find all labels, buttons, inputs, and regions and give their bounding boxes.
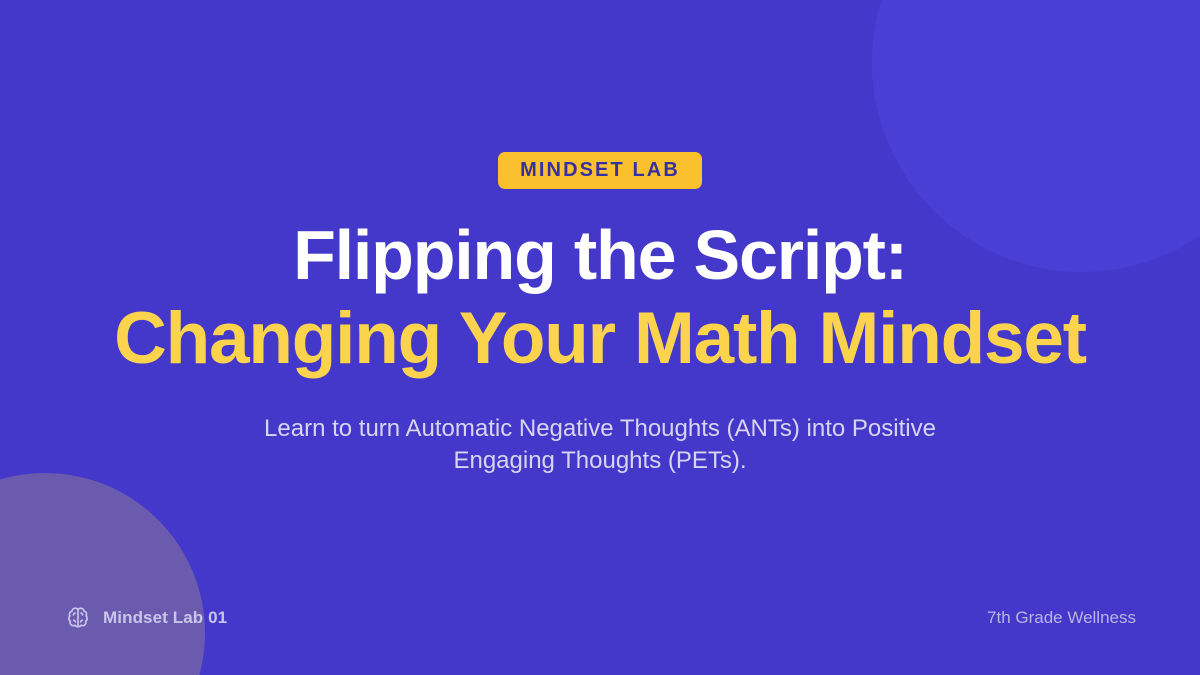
- page-title: Flipping the Script: Changing Your Math …: [114, 220, 1086, 375]
- slide-footer: Mindset Lab 01 7th Grade Wellness: [64, 601, 1136, 635]
- title-line-secondary: Changing Your Math Mindset: [114, 302, 1086, 375]
- footer-brand-group: Mindset Lab 01: [64, 604, 227, 632]
- eyebrow-badge: MINDSET LAB: [498, 152, 702, 189]
- footer-course-label: 7th Grade Wellness: [987, 608, 1136, 628]
- subtitle-text: Learn to turn Automatic Negative Thought…: [220, 413, 980, 476]
- footer-brand-label: Mindset Lab 01: [103, 608, 227, 628]
- slide-root: MINDSET LAB Flipping the Script: Changin…: [0, 0, 1200, 675]
- title-line-primary: Flipping the Script:: [114, 220, 1086, 290]
- brain-icon: [64, 604, 92, 632]
- slide-content: MINDSET LAB Flipping the Script: Changin…: [0, 0, 1200, 675]
